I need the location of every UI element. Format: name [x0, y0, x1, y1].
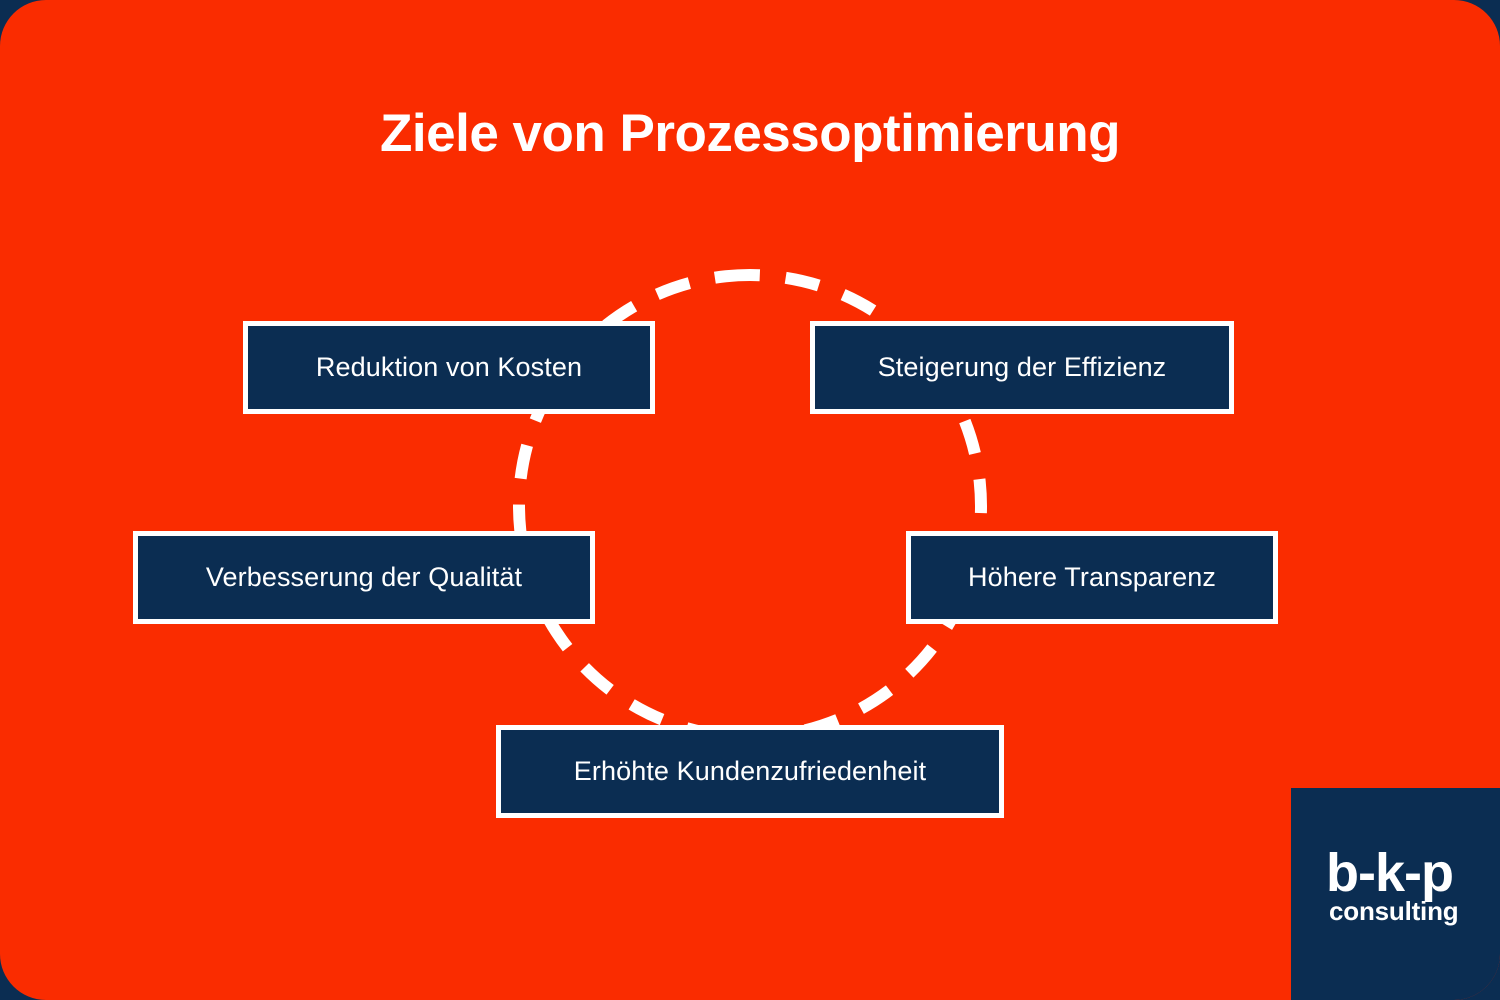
diagram-node-label: Steigerung der Effizienz — [878, 352, 1167, 383]
diagram-node-erhoehte-kundenzufriedenheit[interactable]: Erhöhte Kundenzufriedenheit — [496, 725, 1004, 818]
diagram-node-label: Höhere Transparenz — [968, 562, 1216, 593]
brand-logo: b-k-p consulting — [1291, 788, 1500, 1000]
diagram-node-label: Verbesserung der Qualität — [206, 562, 522, 593]
diagram-node-hoehere-transparenz[interactable]: Höhere Transparenz — [906, 531, 1278, 624]
slide-canvas: Ziele von Prozessoptimierung Reduktion v… — [0, 0, 1500, 1000]
diagram-node-verbesserung-der-qualitaet[interactable]: Verbesserung der Qualität — [133, 531, 595, 624]
brand-tagline: consulting — [1329, 898, 1458, 924]
diagram-node-label: Reduktion von Kosten — [316, 352, 582, 383]
diagram-node-reduktion-von-kosten[interactable]: Reduktion von Kosten — [243, 321, 655, 414]
brand-logo-inner: b-k-p consulting — [1291, 788, 1500, 1000]
diagram-node-label: Erhöhte Kundenzufriedenheit — [574, 756, 926, 787]
diagram-node-steigerung-der-effizienz[interactable]: Steigerung der Effizienz — [810, 321, 1234, 414]
brand-wordmark: b-k-p — [1326, 846, 1453, 900]
page-title: Ziele von Prozessoptimierung — [0, 104, 1500, 165]
slide-panel: Ziele von Prozessoptimierung Reduktion v… — [0, 0, 1500, 1000]
